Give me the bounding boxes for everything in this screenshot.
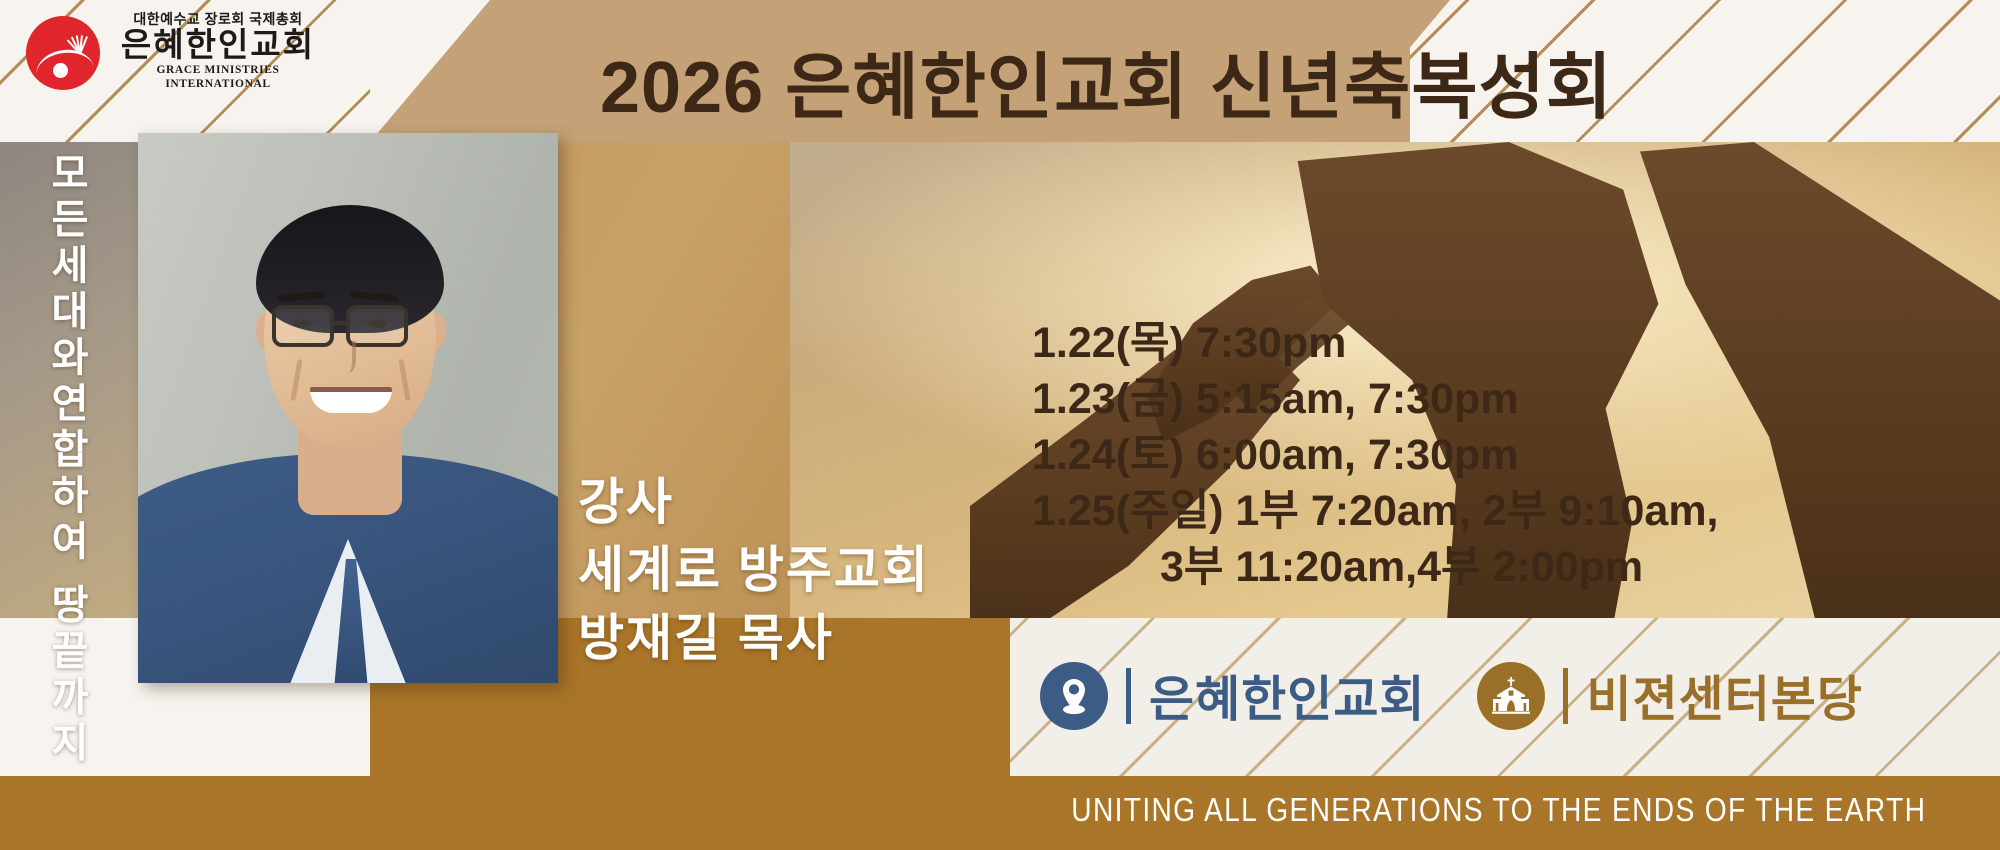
logo-wordmark: 대한예수교 장로회 국제총회 은혜한인교회 GRACE MINISTRIES I… xyxy=(110,12,326,92)
location-item-venue[interactable]: 비젼센터본당 xyxy=(1477,660,1862,731)
location-label: 은혜한인교회 xyxy=(1149,660,1425,731)
speaker-portrait xyxy=(138,133,558,683)
schedule-line: 3부 11:20am,4부 2:00pm xyxy=(1032,540,1719,596)
schedule-line: 1.24(토) 6:00am, 7:30pm xyxy=(1032,428,1719,484)
logo-church-name-en: GRACE MINISTRIES INTERNATIONAL xyxy=(110,64,326,92)
logo-denomination: 대한예수교 장로회 국제총회 xyxy=(110,12,326,27)
vertical-slogan: 모든세대와연합하여 땅끝까지 xyxy=(30,152,86,767)
schedule-line: 1.22(목) 7:30pm xyxy=(1032,316,1719,372)
grace-dove-circle-icon xyxy=(26,16,100,90)
schedule-line: 1.23(금) 5:15am, 7:30pm xyxy=(1032,372,1719,428)
location-divider xyxy=(1126,668,1131,724)
logo-dot-icon xyxy=(53,63,68,78)
event-schedule: 1.22(목) 7:30pm 1.23(금) 5:15am, 7:30pm 1.… xyxy=(1032,316,1719,595)
church-building-icon xyxy=(1477,662,1545,730)
schedule-line: 1.25(주일) 1부 7:20am, 2부 9:10am, xyxy=(1032,484,1719,540)
location-label: 비젼센터본당 xyxy=(1586,660,1862,731)
tagline-text: UNITING ALL GENERATIONS TO THE ENDS OF T… xyxy=(1072,792,1927,830)
church-logo[interactable]: 대한예수교 장로회 국제총회 은혜한인교회 GRACE MINISTRIES I… xyxy=(26,10,326,96)
portrait-smile xyxy=(310,387,392,413)
logo-church-name-kr: 은혜한인교회 xyxy=(110,27,326,64)
speaker-info: 강사 세계로 방주교회 방재길 목사 xyxy=(578,470,930,670)
location-divider xyxy=(1563,668,1568,724)
speaker-name: 방재길 목사 xyxy=(578,606,930,670)
portrait-glasses-left xyxy=(272,305,334,347)
location-item-church[interactable]: 은혜한인교회 xyxy=(1040,660,1425,731)
location-row: 은혜한인교회 비젼센터본당 xyxy=(1040,660,1863,731)
tagline-bar: UNITING ALL GENERATIONS TO THE ENDS OF T… xyxy=(0,776,2000,850)
speaker-church: 세계로 방주교회 xyxy=(578,538,930,602)
portrait-nose xyxy=(336,341,356,373)
speaker-role-label: 강사 xyxy=(578,470,930,534)
portrait-glasses-bridge xyxy=(334,321,346,325)
location-pin-icon xyxy=(1040,662,1108,730)
event-banner: 대한예수교 장로회 국제총회 은혜한인교회 GRACE MINISTRIES I… xyxy=(0,0,2000,850)
page-title: 2026 은혜한인교회 신년축복성회 xyxy=(600,52,1613,124)
